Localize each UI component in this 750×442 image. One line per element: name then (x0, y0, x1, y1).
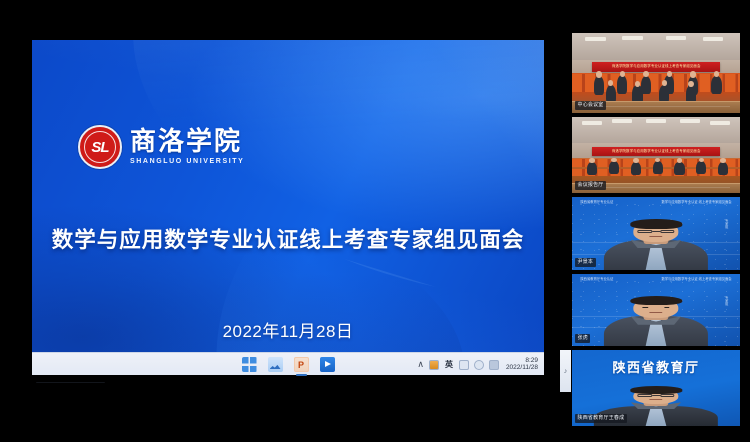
video-conference-window: SL 商洛学院 SHANGLUO UNIVERSITY 数学与应用数学专业认证线… (0, 0, 750, 442)
participant-filmstrip[interactable]: 商洛学院数学与应用数学专业认证线上考查专家组见面会 (560, 0, 750, 442)
virtual-background-titles: 陕西省教育厅专业认证 数学与应用数学专业认证 线上考查专家组见面会 (572, 200, 740, 205)
participant-tile[interactable]: 陕西省教育厅专业认证 数学与应用数学专业认证 线上考查专家组见面会 专家组 (572, 197, 740, 270)
windows-taskbar: ∧ 英 8:29 2022/11/28 (32, 352, 544, 375)
participant-name-label: 张虎 (575, 334, 590, 343)
glasses-icon (637, 230, 675, 233)
virtual-background-titles: 陕西省教育厅专业认证 数学与应用数学专业认证 线上考查专家组见面会 (572, 277, 740, 282)
active-app-indicator (296, 374, 307, 376)
vbg-center-text: 数学与应用数学专业认证 线上考查专家组见面会 (661, 200, 731, 205)
vbg-left-text: 陕西省教育厅专业认证 (580, 277, 613, 282)
taskbar-clock[interactable]: 8:29 2022/11/28 (506, 358, 538, 372)
participant-tile[interactable]: 商洛学院数学与应用数学专业认证线上考查专家组见面会 (572, 117, 740, 193)
audio-indicator-strip (560, 350, 571, 392)
hall-ceiling (572, 33, 740, 60)
camera-icon[interactable] (489, 360, 499, 370)
settings-gear-icon[interactable] (474, 360, 484, 370)
shared-screen-region[interactable]: SL 商洛学院 SHANGLUO UNIVERSITY 数学与应用数学专业认证线… (0, 0, 560, 442)
shared-screen-content: SL 商洛学院 SHANGLUO UNIVERSITY 数学与应用数学专业认证线… (32, 40, 544, 383)
shared-screen-presenter-label: 商洛学院数学与应用数学 (36, 382, 105, 383)
hall-banner-text: 商洛学院数学与应用数学专业认证线上考查专家组见面会 (612, 65, 701, 70)
university-logo-wordmark: 商洛学院 SHANGLUO UNIVERSITY (130, 129, 244, 165)
powerpoint-icon[interactable] (294, 357, 309, 372)
clock-date: 2022/11/28 (506, 365, 538, 372)
media-play-icon[interactable] (320, 357, 335, 372)
hall-banner: 商洛学院数学与应用数学专业认证线上考查专家组见面会 (592, 147, 720, 155)
widgets-icon[interactable] (268, 357, 283, 372)
participant-tile[interactable]: 商洛学院数学与应用数学专业认证线上考查专家组见面会 (572, 33, 740, 113)
glasses-icon (637, 394, 675, 397)
university-name-cn: 商洛学院 (130, 129, 244, 155)
slide-date: 2022年11月28日 (32, 317, 544, 342)
participant-name-label: 尹景本 (575, 258, 596, 267)
participant-video: 陕西省教育厅专业认证 数学与应用数学专业认证 线上考查专家组见面会 专家组 (572, 197, 740, 270)
participant-name-label: 中心会议室 (575, 101, 606, 110)
university-seal-icon: SL (78, 125, 122, 169)
person-figure (572, 216, 740, 270)
hall-banner-text: 商洛学院数学与应用数学专业认证线上考查专家组见面会 (612, 149, 701, 154)
virtual-background: 陕西省教育厅专业认证 数学与应用数学专业认证 线上考查专家组见面会 专家组 (572, 197, 740, 270)
person-figure (572, 293, 740, 346)
university-logo: SL 商洛学院 SHANGLUO UNIVERSITY (78, 125, 244, 169)
chevron-up-icon[interactable]: ∧ (417, 360, 424, 369)
slide-decor-swoosh-1 (32, 40, 544, 352)
participant-name-label: 会议报告厅 (575, 181, 606, 190)
hall-banner: 商洛学院数学与应用数学专业认证线上考查专家组见面会 (592, 62, 720, 72)
slide-title: 数学与应用数学专业认证线上考查专家组见面会 (32, 223, 544, 254)
university-seal-monogram: SL (80, 127, 120, 167)
slide-decor-swoosh-2 (83, 40, 544, 352)
university-name-en: SHANGLUO UNIVERSITY (130, 158, 244, 165)
shield-lock-icon[interactable] (429, 360, 439, 370)
taskbar-system-tray: ∧ 英 8:29 2022/11/28 (417, 353, 540, 376)
participant-tile[interactable]: 陕西省教育厅 陕西省教育厅王春成 (572, 350, 740, 426)
windows-start-icon[interactable] (242, 357, 257, 372)
vbg-left-text: 陕西省教育厅专业认证 (580, 200, 613, 205)
slide-decor-swoosh-3 (193, 87, 544, 352)
presentation-slide: SL 商洛学院 SHANGLUO UNIVERSITY 数学与应用数学专业认证线… (32, 40, 544, 352)
display-icon[interactable] (459, 360, 469, 370)
vbg-center-text: 数学与应用数学专业认证 线上考查专家组见面会 (661, 277, 731, 282)
participant-tile[interactable]: 陕西省教育厅专业认证 数学与应用数学专业认证 线上考查专家组见面会 专家组 (572, 274, 740, 346)
participant-video: 陕西省教育厅专业认证 数学与应用数学专业认证 线上考查专家组见面会 专家组 (572, 274, 740, 346)
gov-department-title: 陕西省教育厅 (572, 357, 740, 376)
ime-icon[interactable]: 英 (444, 361, 454, 369)
virtual-background: 陕西省教育厅专业认证 数学与应用数学专业认证 线上考查专家组见面会 专家组 (572, 274, 740, 346)
participant-name-label: 陕西省教育厅王春成 (575, 414, 627, 423)
hall-ceiling (572, 117, 740, 143)
